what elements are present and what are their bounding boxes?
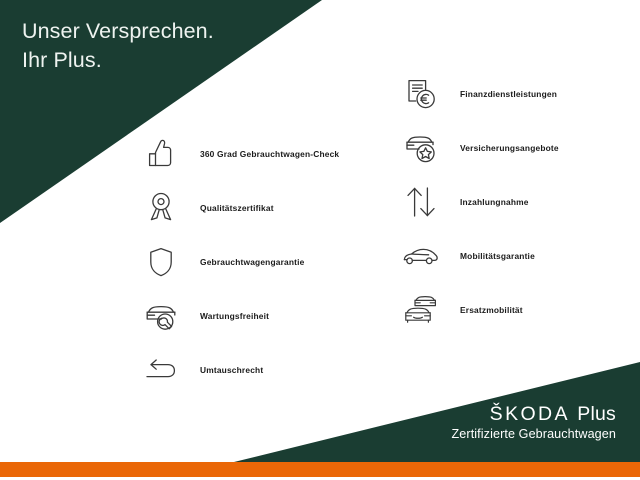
feature-list-right: Finanzdienstleistungen Versicherungsange…: [398, 68, 559, 338]
document-euro-icon: [398, 71, 444, 117]
feature-label: Finanzdienstleistungen: [460, 89, 557, 99]
feature-item: Ersatzmobilität: [398, 284, 559, 336]
brand-name-secondary: Plus: [577, 403, 616, 425]
thumbs-up-icon: [138, 131, 184, 177]
feature-label: Wartungsfreiheit: [200, 311, 269, 321]
feature-label: Inzahlungnahme: [460, 197, 529, 207]
orange-accent-bar: [0, 462, 640, 477]
feature-label: Gebrauchtwagengarantie: [200, 257, 304, 267]
car-star-icon: [398, 125, 444, 171]
brand-wordmark: ŠKODA Plus: [452, 403, 617, 425]
two-cars-icon: [398, 287, 444, 333]
brand-tagline: Zertifizierte Gebrauchtwagen: [452, 426, 617, 443]
shield-icon: [138, 239, 184, 285]
feature-label: Versicherungsangebote: [460, 143, 559, 153]
feature-item: Qualitätszertifikat: [138, 182, 339, 234]
feature-item: Wartungsfreiheit: [138, 290, 339, 342]
promo-banner: Unser Versprechen. Ihr Plus. 360 Grad Ge…: [0, 0, 640, 480]
feature-label: Qualitätszertifikat: [200, 203, 274, 213]
feature-item: Mobilitätsgarantie: [398, 230, 559, 282]
feature-list-left: 360 Grad Gebrauchtwagen-Check Qualitätsz…: [138, 128, 339, 398]
feature-item: Gebrauchtwagengarantie: [138, 236, 339, 288]
car-wrench-icon: [138, 293, 184, 339]
feature-label: Mobilitätsgarantie: [460, 251, 535, 261]
page-title-line-1: Unser Versprechen.: [22, 17, 214, 46]
brand-name-primary: ŠKODA: [490, 403, 570, 425]
feature-item: 360 Grad Gebrauchtwagen-Check: [138, 128, 339, 180]
feature-label: 360 Grad Gebrauchtwagen-Check: [200, 149, 339, 159]
up-down-arrows-icon: [398, 179, 444, 225]
car-side-icon: [398, 233, 444, 279]
feature-item: Versicherungsangebote: [398, 122, 559, 174]
page-title-line-2: Ihr Plus.: [22, 46, 214, 75]
return-arrow-icon: [138, 347, 184, 393]
brand-lockup: ŠKODA Plus Zertifizierte Gebrauchtwagen: [452, 403, 617, 443]
quality-rosette-icon: [138, 185, 184, 231]
feature-label: Umtauschrecht: [200, 365, 263, 375]
feature-label: Ersatzmobilität: [460, 305, 523, 315]
feature-item: Inzahlungnahme: [398, 176, 559, 228]
feature-item: Finanzdienstleistungen: [398, 68, 559, 120]
feature-item: Umtauschrecht: [138, 344, 339, 396]
page-title: Unser Versprechen. Ihr Plus.: [22, 17, 214, 75]
